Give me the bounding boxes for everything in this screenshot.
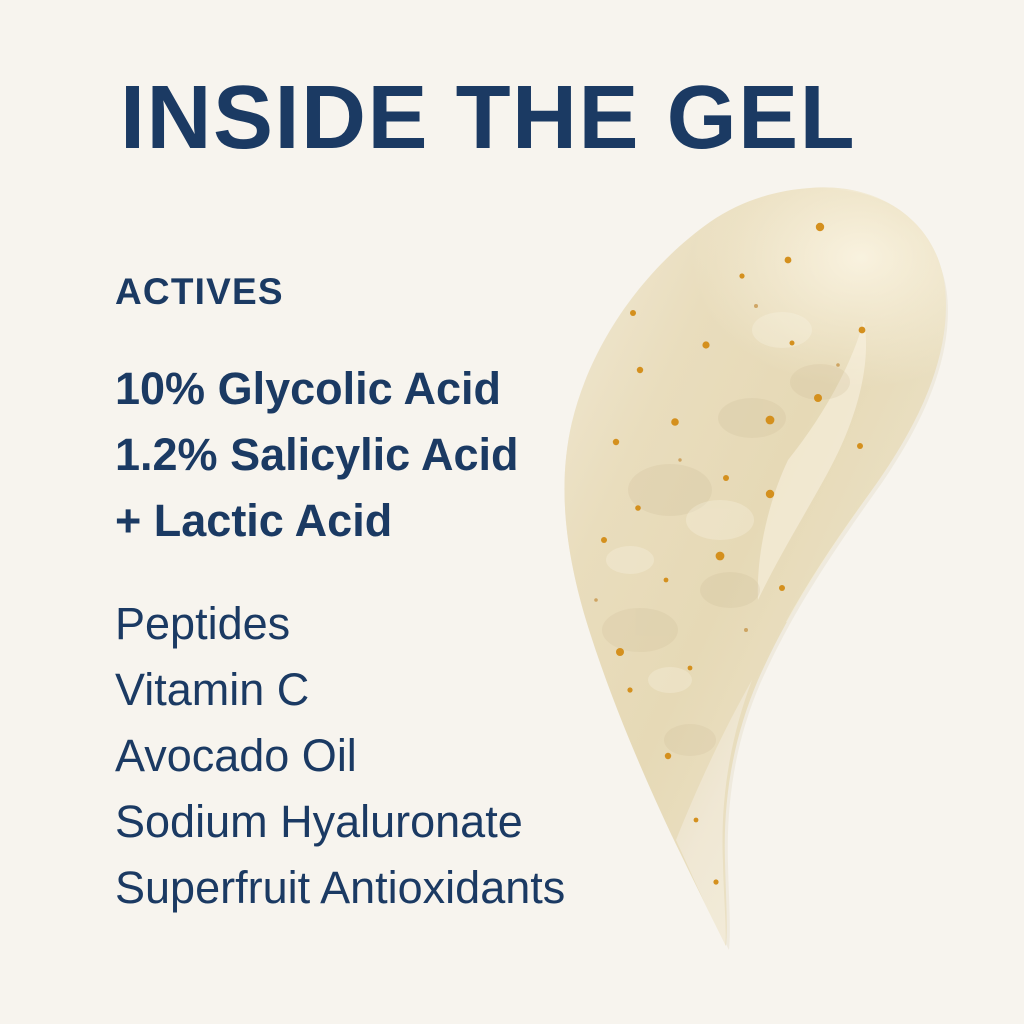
gel-swatch-image xyxy=(520,160,990,980)
ingredients-list-item: Peptides xyxy=(115,591,565,657)
actives-list-item: + Lactic Acid xyxy=(115,488,519,554)
actives-list-item: 1.2% Salicylic Acid xyxy=(115,422,519,488)
actives-heading: ACTIVES xyxy=(115,272,284,312)
ingredients-list-item: Vitamin C xyxy=(115,657,565,723)
ingredients-list-item: Sodium Hyaluronate xyxy=(115,789,565,855)
page-title: INSIDE THE GEL xyxy=(120,72,856,164)
ingredients-list: Peptides Vitamin C Avocado Oil Sodium Hy… xyxy=(115,591,565,921)
ingredients-list-item: Superfruit Antioxidants xyxy=(115,855,565,921)
ingredients-list-item: Avocado Oil xyxy=(115,723,565,789)
product-ingredient-graphic: INSIDE THE GEL ACTIVES 10% Glycolic Acid… xyxy=(0,0,1024,1024)
actives-list: 10% Glycolic Acid 1.2% Salicylic Acid + … xyxy=(115,356,519,554)
actives-list-item: 10% Glycolic Acid xyxy=(115,356,519,422)
